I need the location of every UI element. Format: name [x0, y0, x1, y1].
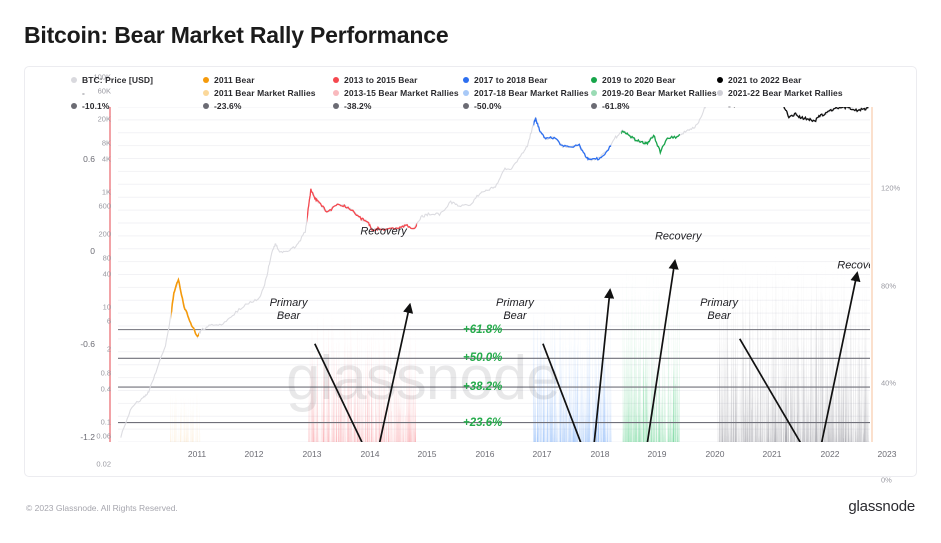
y-axis-price-tick: 6: [83, 317, 111, 326]
legend-entry[interactable]: 2017 to 2018 Bear: [463, 73, 589, 86]
legend-swatch-icon: [71, 103, 77, 109]
legend-entry[interactable]: 2013 to 2015 Bear: [333, 73, 459, 86]
x-axis-tick: 2016: [476, 449, 495, 459]
y-axis-price-tick: 0.02: [83, 460, 111, 469]
legend-entry[interactable]: -50.0%: [463, 99, 589, 112]
y-axis-price-tick: 1K: [83, 188, 111, 197]
legend-swatch-icon: [333, 90, 339, 96]
x-axis-tick: 2023: [878, 449, 897, 459]
y-axis-price-tick: 0.1: [83, 418, 111, 427]
chart-card: BTC: Price [USD] - -10.1% 2011 Bear 2011: [24, 66, 917, 477]
legend-entry[interactable]: 2013-15 Bear Market Rallies: [333, 86, 459, 99]
legend-entry[interactable]: 2021-22 Bear Market Rallies: [717, 86, 843, 99]
anno-primary-bear-2021: Primary Bear: [700, 297, 738, 323]
y-axis-performance-tick: 40%: [881, 379, 896, 388]
legend-swatch-icon: [717, 77, 723, 83]
legend-entry[interactable]: 2011 Bear Market Rallies: [203, 86, 316, 99]
x-axis-tick: 2012: [245, 449, 264, 459]
legend-column-2017-2018[interactable]: 2017 to 2018 Bear 2017-18 Bear Market Ra…: [463, 73, 589, 112]
legend-entry[interactable]: -23.6%: [203, 99, 316, 112]
legend-value: -10.1%: [82, 101, 110, 111]
legend-swatch-icon: [203, 77, 209, 83]
x-axis-tick: 2018: [591, 449, 610, 459]
legend-entry[interactable]: 2011 Bear: [203, 73, 316, 86]
legend-label: 2019-20 Bear Market Rallies: [602, 88, 717, 98]
legend-column-2013-2015[interactable]: 2013 to 2015 Bear 2013-15 Bear Market Ra…: [333, 73, 459, 112]
legend-label: 2019 to 2020 Bear: [602, 75, 676, 85]
y-axis-performance-tick: 120%: [881, 184, 900, 193]
y-axis-price-tick: 600: [83, 202, 111, 211]
legend-entry[interactable]: 2021 to 2022 Bear: [717, 73, 843, 86]
y-axis-price-tick: 20K: [83, 115, 111, 124]
y-axis-performance-tick: 0%: [881, 476, 892, 485]
anno-recovery-2013: Recovery: [360, 225, 406, 238]
rally-spikes: [717, 255, 869, 442]
legend-swatch-icon: [717, 90, 723, 96]
legend-swatch-icon: [463, 77, 469, 83]
legend-label: 2013 to 2015 Bear: [344, 75, 418, 85]
legend-label: 2021 to 2022 Bear: [728, 75, 802, 85]
legend-entry[interactable]: -38.2%: [333, 99, 459, 112]
legend-entry[interactable]: BTC: Price [USD]: [71, 73, 153, 86]
legend-value: -38.2%: [344, 101, 372, 111]
legend-value: -: [728, 101, 731, 111]
x-axis-tick: 2017: [533, 449, 552, 459]
legend-label: 2021-22 Bear Market Rallies: [728, 88, 843, 98]
y-axis-secondary-tick: 0: [47, 246, 95, 256]
legend-swatch-icon: [463, 103, 469, 109]
x-axis-tick: 2013: [303, 449, 322, 459]
legend-column-2011[interactable]: 2011 Bear 2011 Bear Market Rallies -23.6…: [203, 73, 316, 112]
x-axis-tick: 2022: [821, 449, 840, 459]
chart-plot-area[interactable]: glassnode +61.8%+50.0%+38.2%+23.6%+10.1%…: [118, 107, 870, 442]
legend-label: 2013-15 Bear Market Rallies: [344, 88, 459, 98]
legend-label: 2011 Bear Market Rallies: [214, 88, 316, 98]
x-axis-tick: 2019: [648, 449, 667, 459]
legend-entry[interactable]: -: [71, 86, 153, 99]
legend-swatch-icon: [591, 90, 597, 96]
legend-swatch-icon: [333, 103, 339, 109]
y-axis-price-tick: 8K: [83, 139, 111, 148]
legend-entry[interactable]: 2017-18 Bear Market Rallies: [463, 86, 589, 99]
legend-label: 2017-18 Bear Market Rallies: [474, 88, 589, 98]
arrow-recovery-2013: [375, 305, 410, 442]
legend-entry[interactable]: 2019 to 2020 Bear: [591, 73, 717, 86]
legend-label: -: [82, 88, 85, 98]
x-axis-tick: 2011: [188, 449, 206, 459]
anno-recovery-2021: Recovery: [837, 259, 870, 272]
copyright-text: © 2023 Glassnode. All Rights Reserved.: [26, 503, 178, 513]
legend-swatch-icon: [591, 103, 597, 109]
page-title: Bitcoin: Bear Market Rally Performance: [24, 22, 448, 49]
legend-value: -23.6%: [214, 101, 242, 111]
anno-primary-bear-2013: Primary Bear: [270, 297, 308, 323]
x-axis-tick: 2020: [706, 449, 725, 459]
y-axis-secondary-tick: -0.6: [47, 339, 95, 349]
legend-value: -61.8%: [602, 101, 630, 111]
brand-logo: glassnode: [848, 498, 915, 515]
legend-column-2021-2022[interactable]: 2021 to 2022 Bear 2021-22 Bear Market Ra…: [717, 73, 843, 112]
legend-swatch-icon: [591, 77, 597, 83]
legend-swatch-icon: [203, 90, 209, 96]
legend-label: 2017 to 2018 Bear: [474, 75, 548, 85]
y-axis-secondary-tick: 0.6: [47, 154, 95, 164]
legend-entry[interactable]: -: [717, 99, 843, 112]
x-axis-tick: 2014: [361, 449, 380, 459]
y-axis-price-tick: 10: [83, 303, 111, 312]
fib-label-61.8: +61.8%: [463, 324, 502, 336]
y-axis-secondary-tick: -1.2: [47, 432, 95, 442]
fib-label-38.2: +38.2%: [463, 381, 502, 393]
rally-area-series: [170, 255, 869, 442]
y-axis-price-tick: 0.4: [83, 385, 111, 394]
y-axis-price-tick: 0.8: [83, 369, 111, 378]
legend-swatch-icon: [203, 103, 209, 109]
legend-entry[interactable]: -61.8%: [591, 99, 717, 112]
legend-label: 2011 Bear: [214, 75, 255, 85]
legend-entry[interactable]: -10.1%: [71, 99, 153, 112]
anno-recovery-2019: Recovery: [655, 230, 701, 243]
y-axis-performance-tick: 80%: [881, 282, 896, 291]
x-axis-tick: 2021: [763, 449, 782, 459]
legend-value: -50.0%: [474, 101, 502, 111]
y-axis-price-tick: 40: [83, 270, 111, 279]
legend-column-btc-price[interactable]: BTC: Price [USD] - -10.1%: [71, 73, 153, 112]
rally-spikes: [170, 386, 201, 442]
fib-label-23.6: +23.6%: [463, 417, 502, 429]
chart-page: Bitcoin: Bear Market Rally Performance B…: [0, 0, 941, 543]
legend-swatch-icon: [463, 90, 469, 96]
right-axis-spine: [871, 107, 873, 442]
legend-column-2019-2020[interactable]: 2019 to 2020 Bear 2019-20 Bear Market Ra…: [591, 73, 717, 112]
legend-label: BTC: Price [USD]: [82, 75, 153, 85]
x-axis-tick: 2015: [418, 449, 437, 459]
fib-label-50: +50.0%: [463, 352, 502, 364]
legend-swatch-icon: [333, 77, 339, 83]
legend-entry[interactable]: 2019-20 Bear Market Rallies: [591, 86, 717, 99]
y-axis-price-tick: 200: [83, 230, 111, 239]
anno-primary-bear-2017: Primary Bear: [496, 297, 534, 323]
legend-swatch-icon: [71, 77, 77, 83]
